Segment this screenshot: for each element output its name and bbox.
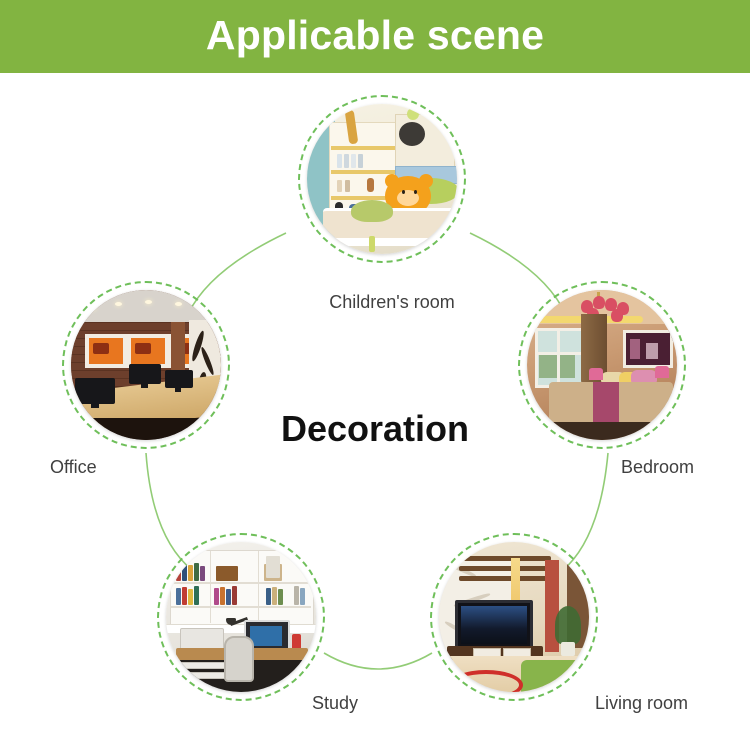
center-title: Decoration <box>175 408 575 450</box>
study-room-photo <box>166 542 316 692</box>
children-room-photo <box>307 104 457 254</box>
header-band: Applicable scene <box>0 0 750 73</box>
node-label-study: Study <box>312 693 358 714</box>
node-living-room[interactable] <box>430 533 598 701</box>
node-label-bedroom: Bedroom <box>621 457 694 478</box>
node-label-living-room: Living room <box>595 693 688 714</box>
node-study[interactable] <box>157 533 325 701</box>
diagram-stage: Children's room <box>0 73 750 750</box>
node-label-office: Office <box>50 457 97 478</box>
living-room-photo <box>439 542 589 692</box>
page-title: Applicable scene <box>0 0 750 73</box>
node-children-room[interactable] <box>298 95 466 263</box>
node-label-children-room: Children's room <box>308 292 476 313</box>
applicable-scene-infographic: Applicable scene <box>0 0 750 750</box>
